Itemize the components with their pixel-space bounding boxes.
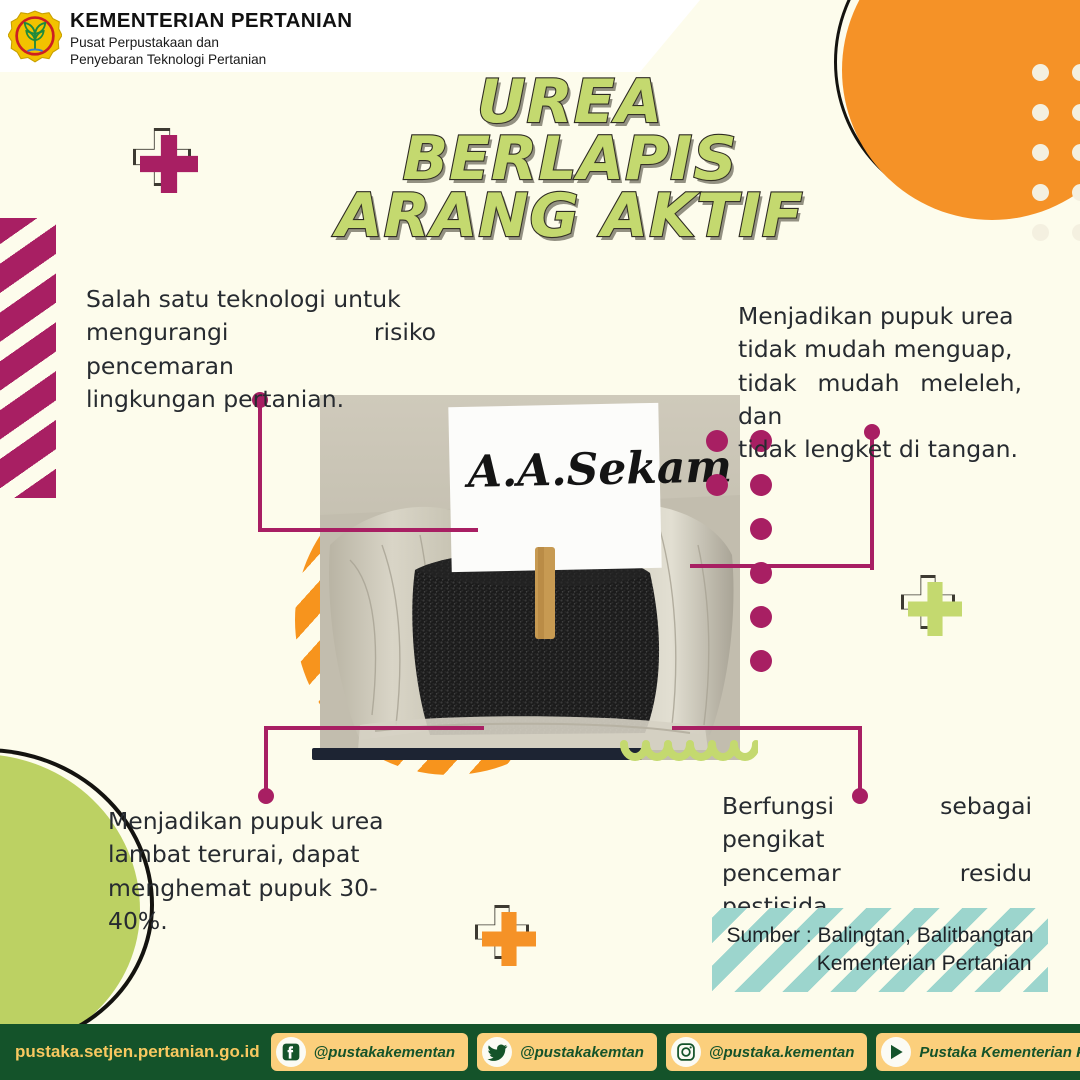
magenta-diagonal-stripes bbox=[0, 218, 56, 498]
grid-dot bbox=[1072, 184, 1080, 201]
ministry-agriculture-emblem-icon bbox=[8, 10, 62, 64]
accent-dot bbox=[706, 430, 728, 452]
social-badge-instagram[interactable]: @pustaka.kementan bbox=[666, 1033, 868, 1071]
grid-dot bbox=[1032, 184, 1049, 201]
connector-bottom-left bbox=[258, 726, 488, 806]
callout-line: lingkungan pertanian. bbox=[86, 383, 436, 416]
footer-bar: pustaka.setjen.pertanian.go.id @pustakak… bbox=[0, 1024, 1080, 1080]
grid-dot bbox=[1032, 224, 1049, 241]
youtube-icon bbox=[881, 1037, 911, 1067]
accent-dot bbox=[750, 562, 772, 584]
callout-bottom-left: Menjadikan pupuk urea lambat terurai, da… bbox=[108, 805, 420, 938]
orange-plus-icon bbox=[482, 912, 536, 966]
source-line-1: Sumber : Balingtan, Balitbangtan bbox=[726, 922, 1033, 950]
source-box: Sumber : Balingtan, Balitbangtan Kemente… bbox=[712, 908, 1048, 992]
grid-dot bbox=[1032, 104, 1049, 121]
instagram-icon bbox=[671, 1037, 701, 1067]
callout-line: mengurangi risiko pencemaran bbox=[86, 316, 436, 383]
youtube-handle: Pustaka Kementerian Pertanian bbox=[919, 1044, 1080, 1061]
facebook-icon bbox=[276, 1037, 306, 1067]
ministry-subtitle-line-1: Pusat Perpustakaan dan bbox=[70, 34, 353, 52]
callout-line: lambat terurai, dapat bbox=[108, 838, 420, 871]
green-squiggle-decoration bbox=[618, 740, 758, 779]
page-title: UREA BERLAPIS ARANG AKTIF bbox=[300, 74, 840, 245]
callout-line: tidak mudah meleleh, dan bbox=[738, 367, 1022, 434]
green-plus-icon bbox=[908, 582, 962, 636]
instagram-handle: @pustaka.kementan bbox=[709, 1044, 855, 1061]
twitter-icon bbox=[482, 1037, 512, 1067]
callout-line: tidak mudah menguap, bbox=[738, 333, 1022, 366]
accent-dot bbox=[750, 606, 772, 628]
callout-line: Berfungsi sebagai pengikat bbox=[722, 790, 1032, 857]
callout-line: Menjadikan pupuk urea bbox=[108, 805, 420, 838]
accent-dot bbox=[750, 650, 772, 672]
title-line-2: ARANG AKTIF bbox=[300, 188, 840, 245]
accent-dot bbox=[750, 474, 772, 496]
ministry-name: KEMENTERIAN PERTANIAN bbox=[70, 10, 353, 32]
callout-line: Salah satu teknologi untuk bbox=[86, 283, 436, 316]
grid-dot bbox=[1032, 64, 1049, 81]
accent-dot bbox=[750, 518, 772, 540]
magenta-plus-icon bbox=[140, 135, 198, 193]
social-badge-twitter[interactable]: @pustakakemtan bbox=[477, 1033, 657, 1071]
grid-dot bbox=[1072, 224, 1080, 241]
callout-line: tidak lengket di tangan. bbox=[738, 433, 1022, 466]
callout-top-right: Menjadikan pupuk urea tidak mudah mengua… bbox=[738, 300, 1022, 467]
header-text-block: KEMENTERIAN PERTANIAN Pusat Perpustakaan… bbox=[70, 10, 353, 69]
facebook-handle: @pustakakementan bbox=[314, 1044, 455, 1061]
social-badge-facebook[interactable]: @pustakakementan bbox=[271, 1033, 468, 1071]
grid-dot bbox=[1032, 144, 1049, 161]
twitter-handle: @pustakakemtan bbox=[520, 1044, 644, 1061]
infographic-canvas: KEMENTERIAN PERTANIAN Pusat Perpustakaan… bbox=[0, 0, 1080, 1080]
social-badge-youtube[interactable]: Pustaka Kementerian Pertanian bbox=[876, 1033, 1080, 1071]
callout-top-left: Salah satu teknologi untuk mengurangi ri… bbox=[86, 283, 436, 416]
ministry-subtitle-line-2: Penyebaran Teknologi Pertanian bbox=[70, 51, 353, 69]
title-line-1: UREA BERLAPIS bbox=[300, 74, 840, 188]
callout-line: menghemat pupuk 30-40%. bbox=[108, 872, 420, 939]
accent-dot bbox=[706, 474, 728, 496]
website-url[interactable]: pustaka.setjen.pertanian.go.id bbox=[9, 1042, 262, 1062]
source-line-2: Kementerian Pertanian bbox=[726, 950, 1033, 978]
callout-line: Menjadikan pupuk urea bbox=[738, 300, 1022, 333]
